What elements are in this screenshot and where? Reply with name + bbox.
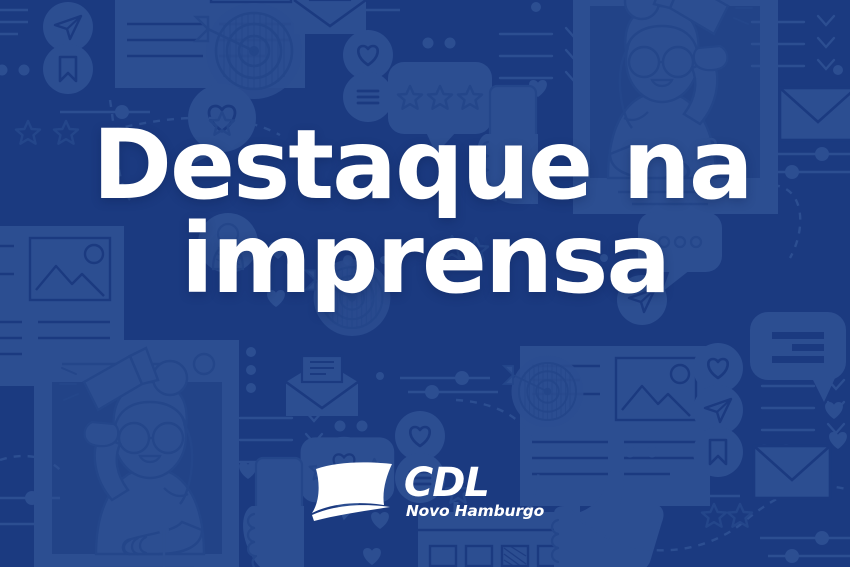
banner-content: Destaque na imprensa CDL Novo Hamburgo [0,0,850,567]
headline-line-2: imprensa [30,212,820,306]
page-flag-icon [306,461,402,523]
press-highlight-banner: Destaque na imprensa CDL Novo Hamburgo [0,0,850,567]
logo-wordmark: CDL Novo Hamburgo [404,465,544,519]
page-title: Destaque na imprensa [30,118,820,306]
logo-name: CDL [404,465,489,502]
logo-subtitle: Novo Hamburgo [406,504,544,520]
headline-line-1: Destaque na [30,118,820,212]
cdl-logo: CDL Novo Hamburgo [0,461,850,523]
